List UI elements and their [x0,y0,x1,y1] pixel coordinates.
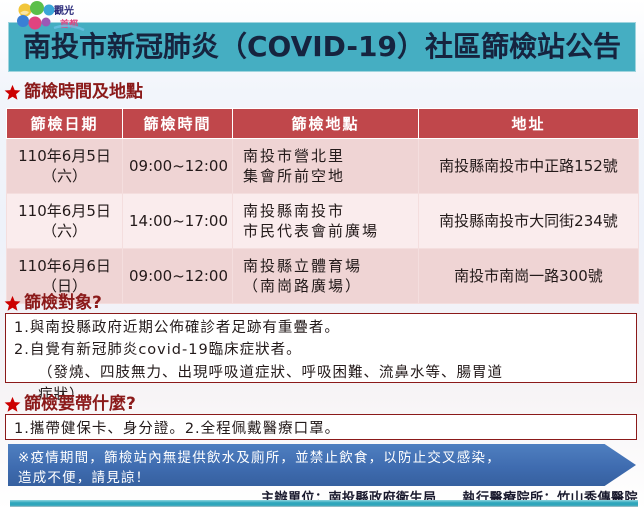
poster-root: 觀光 首都 南投市新冠肺炎（COVID-19）社區篩檢站公告 篩檢時間及地點 篩… [0,0,644,510]
cell-time: 09:00~12:00 [123,139,233,194]
screening-targets-box: 1.與南投縣政府近期公佈確診者足跡有重疊者。 2.自覺有新冠肺炎covid-19… [5,313,637,383]
tourism-bureau-logo: 觀光 首都 [14,1,88,33]
cell-place: 南投縣立體育場 （南崗路廣場） [233,249,419,304]
star-icon [4,295,21,312]
svg-text:觀光: 觀光 [54,4,74,17]
section-heading-schedule: 篩檢時間及地點 [4,84,143,101]
cell-place: 南投縣南投市 市民代表會前廣場 [233,194,419,249]
cell-time: 14:00~17:00 [123,194,233,249]
star-icon [4,396,21,413]
column-header-time: 篩檢時間 [123,109,233,139]
section-label-bring: 篩檢要帶什麼? [24,396,136,413]
table-row: 110年6月5日 （六） 09:00~12:00 南投市營北里 集會所前空地 南… [7,139,639,194]
notice-line-1: ※疫情期間，篩檢站內無提供飲水及廁所，並禁止飲食，以防止交叉感染， [18,448,626,468]
section-label-targets: 篩檢對象? [24,295,102,312]
notice-line-2: 造成不便，請見諒！ [18,468,626,488]
cell-place: 南投市營北里 集會所前空地 [233,139,419,194]
bring-item-1: 1.攜帶健保卡、身分證。2.全程佩戴醫療口罩。 [14,418,630,440]
footer-divider-bar [10,500,638,507]
cell-date: 110年6月5日 （六） [7,139,123,194]
table-row: 110年6月5日 （六） 14:00~17:00 南投縣南投市 市民代表會前廣場… [7,194,639,249]
section-heading-targets: 篩檢對象? [4,295,102,312]
column-header-date: 篩檢日期 [7,109,123,139]
cell-address: 南投縣南投市大同街234號 [419,194,639,249]
table-header-row: 篩檢日期 篩檢時間 篩檢地點 地址 [7,109,639,139]
cell-date: 110年6月5日 （六） [7,194,123,249]
section-heading-bring: 篩檢要帶什麼? [4,396,136,413]
symptom-list-line-1: （發燒、四肢無力、出現呼吸道症狀、呼吸困難、流鼻水等、腸胃道 [14,362,630,384]
cell-address: 南投市南崗一路300號 [419,249,639,304]
target-item-2: 2.自覺有新冠肺炎covid-19臨床症狀者。 [14,339,630,361]
what-to-bring-box: 1.攜帶健保卡、身分證。2.全程佩戴醫療口罩。 [5,414,637,440]
page-title: 南投市新冠肺炎（COVID-19）社區篩檢站公告 [23,33,621,61]
section-label-schedule: 篩檢時間及地點 [24,84,143,101]
cell-time: 09:00~12:00 [123,249,233,304]
column-header-address: 地址 [419,109,639,139]
star-icon [4,84,21,101]
title-banner: 南投市新冠肺炎（COVID-19）社區篩檢站公告 [8,22,636,72]
screening-schedule-table: 篩檢日期 篩檢時間 篩檢地點 地址 110年6月5日 （六） 09:00~12:… [6,108,639,304]
epidemic-notice-banner: ※疫情期間，篩檢站內無提供飲水及廁所，並禁止飲食，以防止交叉感染， 造成不便，請… [8,444,636,486]
cell-address: 南投縣南投市中正路152號 [419,139,639,194]
target-item-1: 1.與南投縣政府近期公佈確診者足跡有重疊者。 [14,317,630,339]
column-header-place: 篩檢地點 [233,109,419,139]
